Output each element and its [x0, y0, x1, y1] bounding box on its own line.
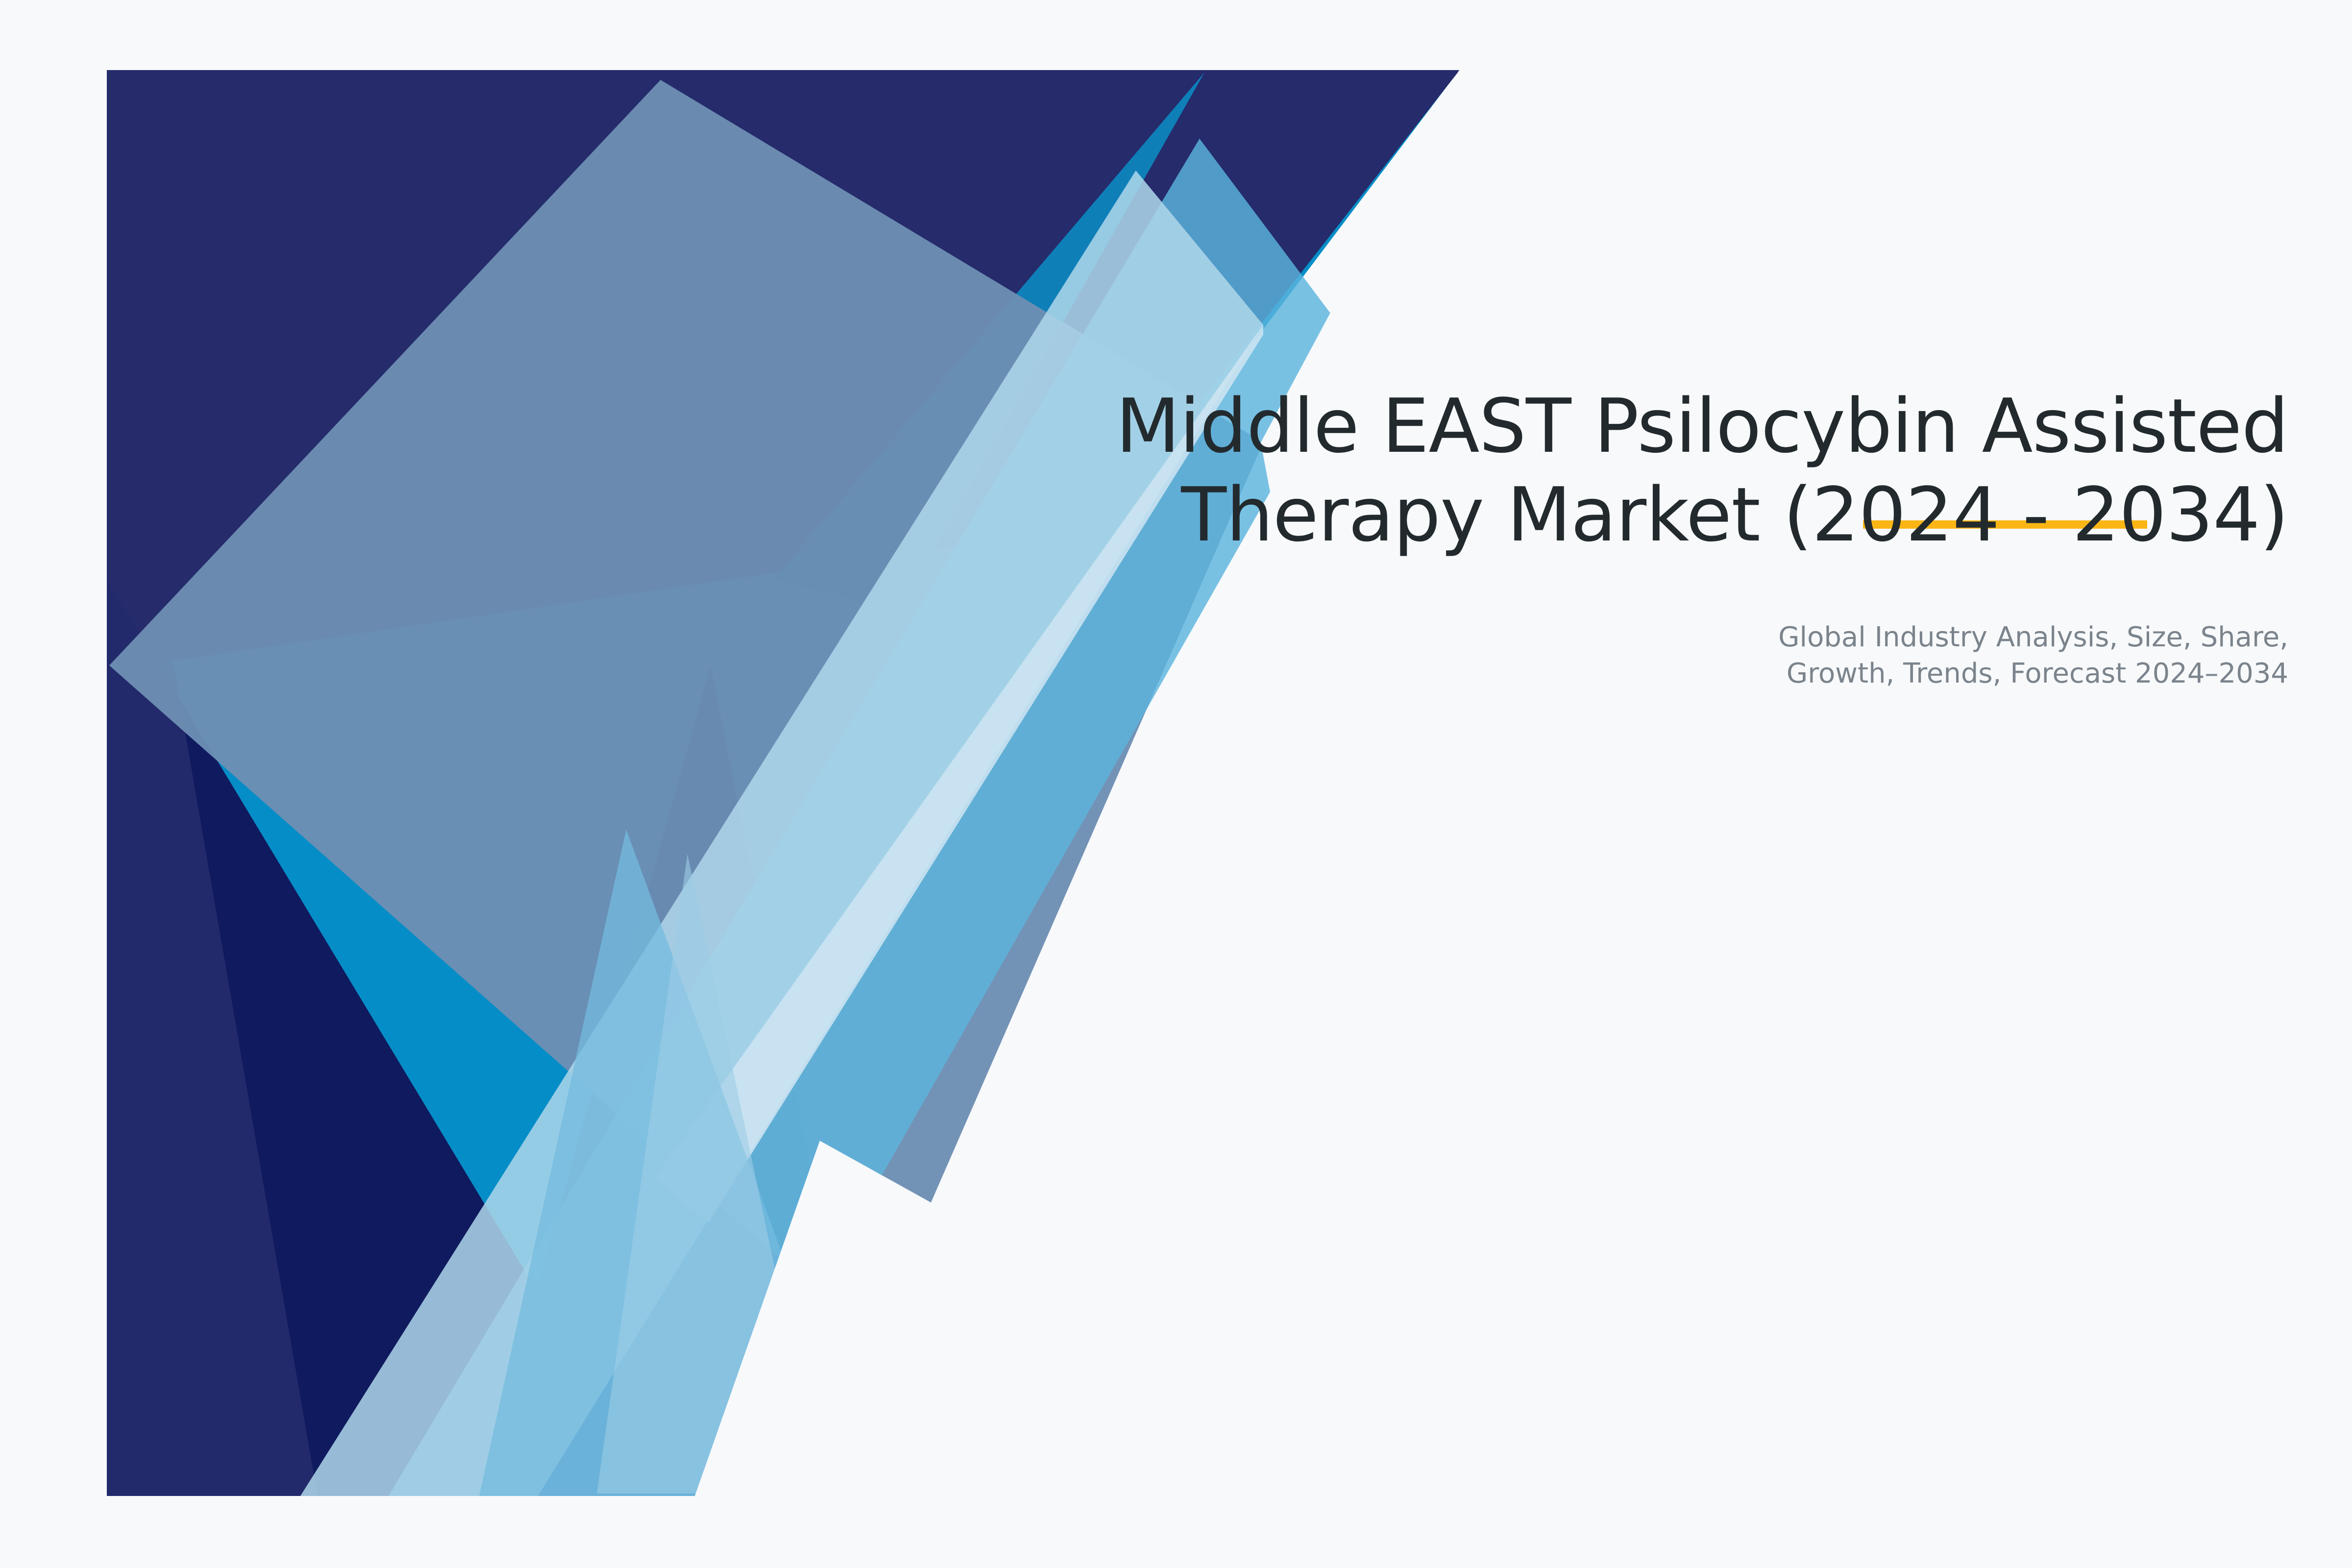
- report-cover-page: Middle EAST Psilocybin Assisted Therapy …: [0, 0, 2352, 1568]
- abstract-geometric-artwork: [107, 70, 1459, 1496]
- page-subtitle: Global Industry Analysis, Size, Share, G…: [1053, 560, 2288, 692]
- artwork-svg: [107, 70, 1459, 1496]
- page-title: Middle EAST Psilocybin Assisted Therapy …: [1053, 382, 2288, 560]
- cover-text-block: Middle EAST Psilocybin Assisted Therapy …: [1053, 382, 2288, 692]
